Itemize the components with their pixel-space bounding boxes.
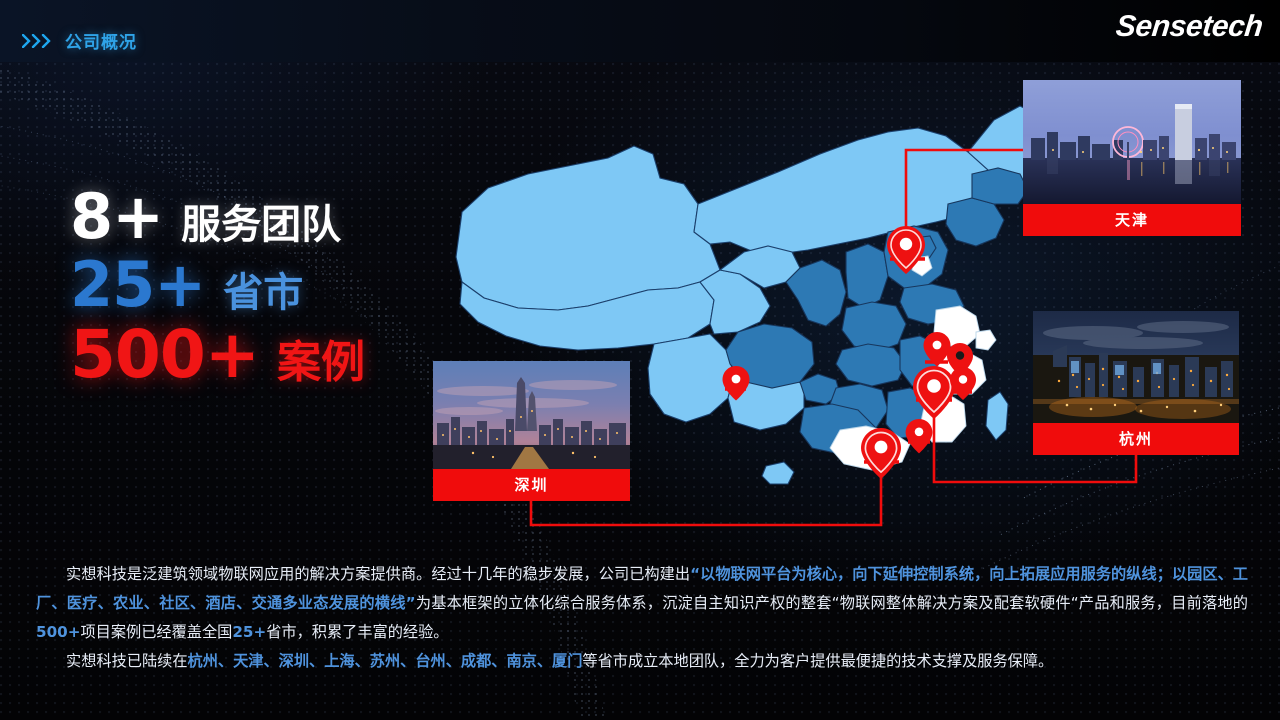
stat-number: 500+: [70, 322, 259, 388]
map-taiwan: [986, 392, 1008, 440]
p2-part-b: 等省市成立本地团队，全力为客户提供最便捷的技术支撑及服务保障。: [582, 652, 1053, 670]
brand-logo: Sensetech: [1114, 10, 1264, 44]
city-card-label: 杭州: [1033, 423, 1239, 455]
stat-row-cases: 500+ 案例: [70, 322, 430, 388]
p1-part-a: 实想科技是泛建筑领域物联网应用的解决方案提供商。经过十几年的稳步发展，公司已构建…: [66, 565, 690, 583]
hangzhou-photo: [1033, 311, 1239, 423]
body-paragraph: 实想科技是泛建筑领域物联网应用的解决方案提供商。经过十几年的稳步发展，公司已构建…: [36, 560, 1248, 676]
paragraph-2: 实想科技已陆续在杭州、天津、深圳、上海、苏州、台州、成都、南京、厦门等省市成立本…: [36, 647, 1248, 676]
city-card-label: 深圳: [433, 469, 630, 501]
page-title: 公司概况: [65, 28, 137, 53]
p1-number-cases: 500+: [36, 623, 80, 641]
p1-part-b: 为基本框架的立体化综合服务体系，沉淀自主知识产权的整套“物联网整体解决方案及配套…: [416, 594, 1248, 612]
stat-number: 25+: [70, 254, 205, 316]
stat-label: 案例: [277, 341, 365, 385]
breadcrumb: 公司概况: [22, 28, 137, 53]
stat-label: 服务团队: [181, 205, 341, 245]
p2-part-a: 实想科技已陆续在: [66, 652, 188, 670]
paragraph-1: 实想科技是泛建筑领域物联网应用的解决方案提供商。经过十几年的稳步发展，公司已构建…: [36, 560, 1248, 647]
city-card-tianjin[interactable]: 天津: [1023, 80, 1241, 236]
stat-row-teams: 8+ 服务团队: [70, 186, 430, 248]
p1-part-d: 省市，积累了丰富的经验。: [266, 623, 448, 641]
stat-label: 省市: [223, 273, 303, 313]
city-card-hangzhou[interactable]: 杭州: [1033, 311, 1239, 455]
city-card-shenzhen[interactable]: 深圳: [433, 361, 630, 501]
shenzhen-photo: [433, 361, 630, 469]
stat-row-provinces: 25+ 省市: [70, 254, 430, 316]
p2-city-list: 杭州、天津、深圳、上海、苏州、台州、成都、南京、厦门: [188, 652, 583, 670]
p1-number-provinces: 25+: [232, 623, 266, 641]
chevrons-right-icon: [22, 34, 56, 48]
p1-part-c: 项目案例已经覆盖全国: [80, 623, 232, 641]
tianjin-photo: [1023, 80, 1241, 204]
city-card-label: 天津: [1023, 204, 1241, 236]
header-bar: [0, 0, 1280, 62]
stat-number: 8+: [70, 186, 163, 248]
stats-block: 8+ 服务团队 25+ 省市 500+ 案例: [70, 186, 430, 394]
